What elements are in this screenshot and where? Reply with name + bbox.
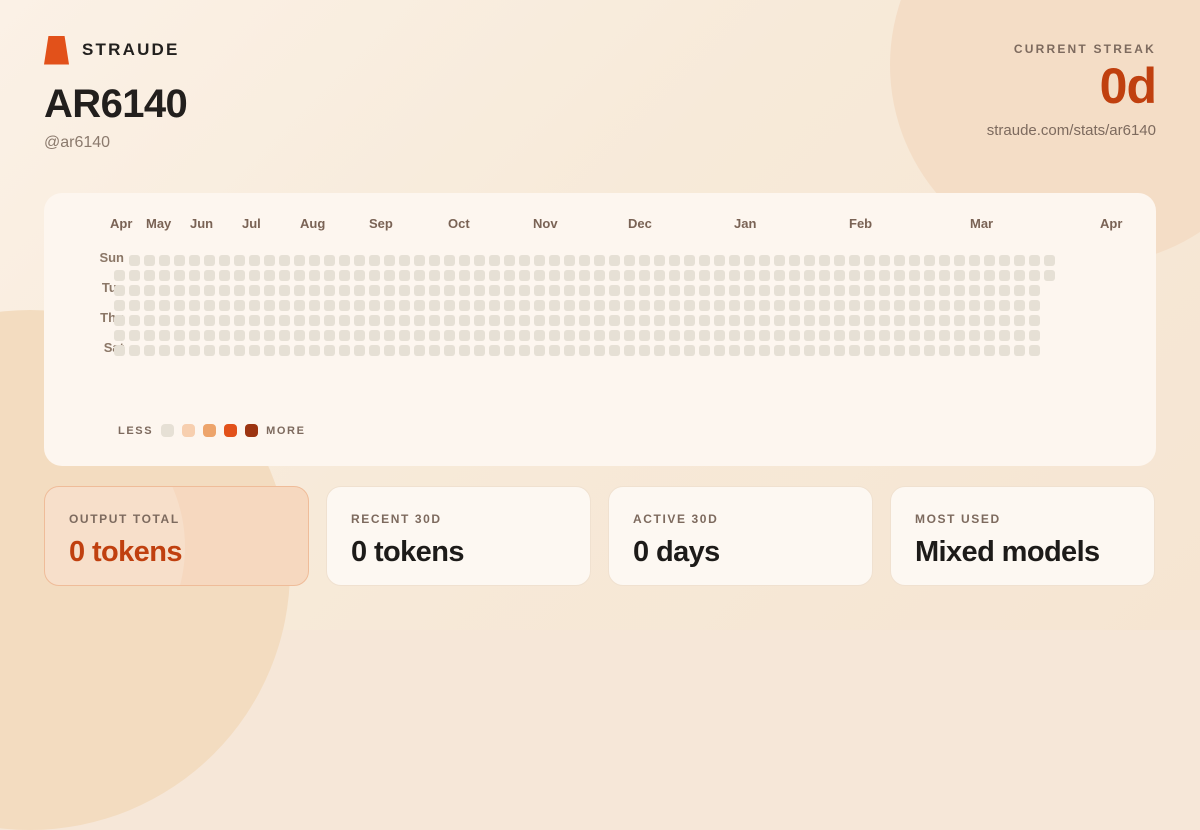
- heatmap-cell[interactable]: [954, 270, 965, 281]
- heatmap-cell[interactable]: [504, 330, 515, 341]
- heatmap-cell[interactable]: [294, 330, 305, 341]
- heatmap-cell[interactable]: [309, 345, 320, 356]
- heatmap-cell[interactable]: [684, 285, 695, 296]
- heatmap-cell[interactable]: [639, 345, 650, 356]
- heatmap-cell[interactable]: [279, 270, 290, 281]
- heatmap-cell[interactable]: [864, 285, 875, 296]
- heatmap-cell[interactable]: [819, 255, 830, 266]
- heatmap-cell[interactable]: [129, 285, 140, 296]
- heatmap-cell[interactable]: [429, 270, 440, 281]
- heatmap-cell[interactable]: [429, 315, 440, 326]
- heatmap-cell[interactable]: [369, 255, 380, 266]
- heatmap-cell[interactable]: [294, 300, 305, 311]
- heatmap-cell[interactable]: [459, 315, 470, 326]
- heatmap-cell[interactable]: [354, 285, 365, 296]
- heatmap-cell[interactable]: [579, 315, 590, 326]
- heatmap-cell[interactable]: [774, 315, 785, 326]
- heatmap-cell[interactable]: [894, 270, 905, 281]
- heatmap-cell[interactable]: [684, 255, 695, 266]
- heatmap-cell[interactable]: [159, 345, 170, 356]
- heatmap-cell[interactable]: [549, 285, 560, 296]
- heatmap-cell[interactable]: [429, 285, 440, 296]
- heatmap-cell[interactable]: [249, 285, 260, 296]
- heatmap-cell[interactable]: [444, 270, 455, 281]
- heatmap-cell[interactable]: [489, 285, 500, 296]
- heatmap-cell[interactable]: [804, 255, 815, 266]
- heatmap-cell[interactable]: [129, 345, 140, 356]
- heatmap-cell[interactable]: [609, 270, 620, 281]
- heatmap-cell[interactable]: [474, 255, 485, 266]
- heatmap-cell[interactable]: [174, 300, 185, 311]
- stat-card-recent-30d[interactable]: RECENT 30D0 tokens: [326, 486, 591, 586]
- heatmap-cell[interactable]: [249, 255, 260, 266]
- heatmap-cell[interactable]: [459, 345, 470, 356]
- heatmap-cell[interactable]: [774, 270, 785, 281]
- heatmap-cell[interactable]: [474, 330, 485, 341]
- heatmap-cell[interactable]: [309, 300, 320, 311]
- heatmap-cell[interactable]: [324, 300, 335, 311]
- heatmap-cell[interactable]: [129, 270, 140, 281]
- heatmap-cell[interactable]: [669, 330, 680, 341]
- heatmap-cell[interactable]: [1029, 345, 1040, 356]
- heatmap-cell[interactable]: [204, 300, 215, 311]
- heatmap-cell[interactable]: [654, 315, 665, 326]
- heatmap-cell[interactable]: [669, 270, 680, 281]
- heatmap-cell[interactable]: [264, 345, 275, 356]
- heatmap-cell[interactable]: [354, 300, 365, 311]
- heatmap-cell[interactable]: [654, 330, 665, 341]
- heatmap-cell[interactable]: [849, 315, 860, 326]
- heatmap-cell[interactable]: [729, 345, 740, 356]
- heatmap-cell[interactable]: [609, 330, 620, 341]
- heatmap-cell[interactable]: [834, 300, 845, 311]
- heatmap-cell[interactable]: [804, 330, 815, 341]
- heatmap-cell[interactable]: [429, 300, 440, 311]
- heatmap-cell[interactable]: [894, 315, 905, 326]
- heatmap-cell[interactable]: [669, 285, 680, 296]
- heatmap-cell[interactable]: [279, 330, 290, 341]
- heatmap-cell[interactable]: [1014, 255, 1025, 266]
- heatmap-cell[interactable]: [879, 270, 890, 281]
- heatmap-cell[interactable]: [999, 285, 1010, 296]
- heatmap-cell[interactable]: [789, 285, 800, 296]
- heatmap-cell[interactable]: [924, 345, 935, 356]
- heatmap-cell[interactable]: [1029, 300, 1040, 311]
- heatmap-cell[interactable]: [609, 285, 620, 296]
- heatmap-cell[interactable]: [699, 285, 710, 296]
- heatmap-cell[interactable]: [969, 300, 980, 311]
- heatmap-cell[interactable]: [384, 255, 395, 266]
- heatmap-cell[interactable]: [414, 270, 425, 281]
- heatmap-cell[interactable]: [189, 300, 200, 311]
- heatmap-cell[interactable]: [744, 345, 755, 356]
- heatmap-cell[interactable]: [1014, 285, 1025, 296]
- heatmap-cell[interactable]: [909, 345, 920, 356]
- heatmap-cell[interactable]: [519, 315, 530, 326]
- heatmap-cell[interactable]: [354, 345, 365, 356]
- heatmap-cell[interactable]: [1029, 270, 1040, 281]
- heatmap-cell[interactable]: [549, 300, 560, 311]
- heatmap-cell[interactable]: [519, 330, 530, 341]
- heatmap-cell[interactable]: [984, 345, 995, 356]
- heatmap-cell[interactable]: [144, 315, 155, 326]
- heatmap-cell[interactable]: [804, 345, 815, 356]
- heatmap-cell[interactable]: [924, 255, 935, 266]
- heatmap-cell[interactable]: [234, 330, 245, 341]
- heatmap-cell[interactable]: [339, 285, 350, 296]
- heatmap-cell[interactable]: [774, 345, 785, 356]
- heatmap-cell[interactable]: [504, 270, 515, 281]
- heatmap-cell[interactable]: [114, 315, 125, 326]
- heatmap-cell[interactable]: [684, 300, 695, 311]
- heatmap-cell[interactable]: [414, 330, 425, 341]
- heatmap-cell[interactable]: [669, 315, 680, 326]
- heatmap-cell[interactable]: [864, 330, 875, 341]
- heatmap-cell[interactable]: [879, 285, 890, 296]
- heatmap-cell[interactable]: [1014, 330, 1025, 341]
- heatmap-cell[interactable]: [759, 315, 770, 326]
- heatmap-cell[interactable]: [519, 345, 530, 356]
- heatmap-cell[interactable]: [834, 255, 845, 266]
- heatmap-cell[interactable]: [924, 285, 935, 296]
- heatmap-cell[interactable]: [174, 330, 185, 341]
- heatmap-cell[interactable]: [969, 345, 980, 356]
- heatmap-cell[interactable]: [459, 255, 470, 266]
- heatmap-cell[interactable]: [339, 330, 350, 341]
- heatmap-cell[interactable]: [399, 315, 410, 326]
- heatmap-cell[interactable]: [864, 270, 875, 281]
- heatmap-cell[interactable]: [159, 255, 170, 266]
- heatmap-cell[interactable]: [474, 285, 485, 296]
- heatmap-cell[interactable]: [339, 255, 350, 266]
- heatmap-cell[interactable]: [129, 255, 140, 266]
- heatmap-cell[interactable]: [219, 345, 230, 356]
- heatmap-cell[interactable]: [729, 255, 740, 266]
- heatmap-cell[interactable]: [639, 285, 650, 296]
- heatmap-cell[interactable]: [144, 270, 155, 281]
- heatmap-cell[interactable]: [999, 270, 1010, 281]
- heatmap-cell[interactable]: [624, 315, 635, 326]
- heatmap-cell[interactable]: [624, 270, 635, 281]
- heatmap-cell[interactable]: [189, 255, 200, 266]
- heatmap-cell[interactable]: [774, 330, 785, 341]
- heatmap-cell[interactable]: [264, 255, 275, 266]
- heatmap-cell[interactable]: [789, 330, 800, 341]
- heatmap-cell[interactable]: [114, 285, 125, 296]
- heatmap-cell[interactable]: [759, 300, 770, 311]
- heatmap-cell[interactable]: [819, 270, 830, 281]
- heatmap-cell[interactable]: [954, 345, 965, 356]
- heatmap-cell[interactable]: [609, 315, 620, 326]
- heatmap-cell[interactable]: [834, 285, 845, 296]
- heatmap-cell[interactable]: [579, 285, 590, 296]
- heatmap-cell[interactable]: [204, 270, 215, 281]
- heatmap-cell[interactable]: [834, 345, 845, 356]
- heatmap-cell[interactable]: [414, 345, 425, 356]
- heatmap-cell[interactable]: [654, 285, 665, 296]
- heatmap-cell[interactable]: [759, 285, 770, 296]
- heatmap-cell[interactable]: [699, 255, 710, 266]
- heatmap-cell[interactable]: [474, 300, 485, 311]
- heatmap-cell[interactable]: [579, 330, 590, 341]
- heatmap-cell[interactable]: [129, 300, 140, 311]
- heatmap-cell[interactable]: [939, 315, 950, 326]
- heatmap-cell[interactable]: [114, 300, 125, 311]
- heatmap-cell[interactable]: [114, 270, 125, 281]
- heatmap-cell[interactable]: [324, 315, 335, 326]
- heatmap-cell[interactable]: [384, 270, 395, 281]
- heatmap-cell[interactable]: [384, 345, 395, 356]
- heatmap-cell[interactable]: [879, 330, 890, 341]
- heatmap-cell[interactable]: [849, 285, 860, 296]
- heatmap-cell[interactable]: [294, 255, 305, 266]
- heatmap-cell[interactable]: [264, 270, 275, 281]
- heatmap-cell[interactable]: [249, 330, 260, 341]
- heatmap-cell[interactable]: [444, 285, 455, 296]
- heatmap-cell[interactable]: [234, 315, 245, 326]
- heatmap-cell[interactable]: [714, 315, 725, 326]
- heatmap-cell[interactable]: [459, 270, 470, 281]
- heatmap-cell[interactable]: [639, 315, 650, 326]
- heatmap-cell[interactable]: [564, 330, 575, 341]
- heatmap-cell[interactable]: [894, 285, 905, 296]
- heatmap-cell[interactable]: [984, 330, 995, 341]
- heatmap-cell[interactable]: [909, 315, 920, 326]
- heatmap-cell[interactable]: [1029, 255, 1040, 266]
- heatmap-cell[interactable]: [519, 270, 530, 281]
- heatmap-cell[interactable]: [954, 300, 965, 311]
- heatmap-cell[interactable]: [354, 255, 365, 266]
- stat-card-active-30d[interactable]: ACTIVE 30D0 days: [608, 486, 873, 586]
- heatmap-cell[interactable]: [219, 300, 230, 311]
- heatmap-cell[interactable]: [834, 330, 845, 341]
- heatmap-cell[interactable]: [339, 345, 350, 356]
- heatmap-cell[interactable]: [294, 345, 305, 356]
- heatmap-cell[interactable]: [759, 345, 770, 356]
- heatmap-cell[interactable]: [864, 315, 875, 326]
- heatmap-cell[interactable]: [189, 285, 200, 296]
- heatmap-cell[interactable]: [534, 300, 545, 311]
- brand[interactable]: STRAUDE: [44, 36, 187, 64]
- heatmap-cell[interactable]: [594, 285, 605, 296]
- heatmap-cell[interactable]: [984, 270, 995, 281]
- heatmap-cell[interactable]: [789, 315, 800, 326]
- heatmap-cell[interactable]: [249, 315, 260, 326]
- heatmap-cell[interactable]: [939, 345, 950, 356]
- heatmap-cell[interactable]: [534, 255, 545, 266]
- heatmap-cell[interactable]: [924, 300, 935, 311]
- heatmap-cell[interactable]: [429, 345, 440, 356]
- heatmap-cell[interactable]: [804, 300, 815, 311]
- heatmap-cell[interactable]: [639, 270, 650, 281]
- heatmap-cell[interactable]: [549, 330, 560, 341]
- heatmap-cell[interactable]: [834, 270, 845, 281]
- heatmap-cell[interactable]: [189, 345, 200, 356]
- heatmap-cell[interactable]: [984, 255, 995, 266]
- heatmap-cell[interactable]: [324, 255, 335, 266]
- heatmap-cell[interactable]: [399, 270, 410, 281]
- heatmap-cell[interactable]: [414, 285, 425, 296]
- heatmap-cell[interactable]: [909, 330, 920, 341]
- heatmap-cell[interactable]: [474, 345, 485, 356]
- heatmap-cell[interactable]: [624, 330, 635, 341]
- heatmap-cell[interactable]: [489, 330, 500, 341]
- heatmap-cell[interactable]: [819, 315, 830, 326]
- heatmap-cell[interactable]: [279, 315, 290, 326]
- heatmap-cell[interactable]: [594, 270, 605, 281]
- heatmap-cell[interactable]: [489, 315, 500, 326]
- heatmap-cell[interactable]: [294, 315, 305, 326]
- heatmap-cell[interactable]: [879, 300, 890, 311]
- heatmap-cell[interactable]: [774, 300, 785, 311]
- heatmap-cell[interactable]: [699, 270, 710, 281]
- heatmap-cell[interactable]: [714, 285, 725, 296]
- heatmap-cell[interactable]: [279, 345, 290, 356]
- heatmap-cell[interactable]: [234, 300, 245, 311]
- heatmap-cell[interactable]: [654, 300, 665, 311]
- heatmap-cell[interactable]: [369, 270, 380, 281]
- heatmap-cell[interactable]: [234, 345, 245, 356]
- heatmap-cell[interactable]: [564, 285, 575, 296]
- heatmap-cell[interactable]: [519, 255, 530, 266]
- heatmap-cell[interactable]: [504, 285, 515, 296]
- heatmap-cell[interactable]: [114, 345, 125, 356]
- heatmap-cell[interactable]: [399, 330, 410, 341]
- heatmap-cell[interactable]: [309, 255, 320, 266]
- heatmap-cell[interactable]: [609, 345, 620, 356]
- heatmap-cell[interactable]: [909, 255, 920, 266]
- heatmap-cell[interactable]: [714, 330, 725, 341]
- heatmap-cell[interactable]: [939, 300, 950, 311]
- heatmap-cell[interactable]: [1014, 345, 1025, 356]
- heatmap-cell[interactable]: [399, 300, 410, 311]
- heatmap-cell[interactable]: [684, 330, 695, 341]
- heatmap-cell[interactable]: [624, 345, 635, 356]
- heatmap-cell[interactable]: [999, 315, 1010, 326]
- heatmap-cell[interactable]: [639, 300, 650, 311]
- heatmap-cell[interactable]: [954, 315, 965, 326]
- heatmap-cell[interactable]: [429, 330, 440, 341]
- heatmap-cell[interactable]: [549, 345, 560, 356]
- heatmap-cell[interactable]: [894, 255, 905, 266]
- heatmap-cell[interactable]: [939, 330, 950, 341]
- heatmap-cell[interactable]: [774, 285, 785, 296]
- heatmap-cell[interactable]: [474, 315, 485, 326]
- heatmap-cell[interactable]: [309, 270, 320, 281]
- heatmap-cell[interactable]: [114, 330, 125, 341]
- heatmap-cell[interactable]: [969, 315, 980, 326]
- heatmap-cell[interactable]: [744, 300, 755, 311]
- heatmap-cell[interactable]: [939, 270, 950, 281]
- heatmap-cell[interactable]: [849, 345, 860, 356]
- heatmap-cell[interactable]: [564, 345, 575, 356]
- heatmap-cell[interactable]: [1014, 270, 1025, 281]
- heatmap-cell[interactable]: [909, 300, 920, 311]
- heatmap-cell[interactable]: [459, 330, 470, 341]
- heatmap-cell[interactable]: [324, 330, 335, 341]
- heatmap-cell[interactable]: [954, 285, 965, 296]
- heatmap-cell[interactable]: [504, 315, 515, 326]
- heatmap-cell[interactable]: [594, 300, 605, 311]
- heatmap-cell[interactable]: [174, 285, 185, 296]
- heatmap-cell[interactable]: [789, 345, 800, 356]
- heatmap-cell[interactable]: [369, 345, 380, 356]
- heatmap-cell[interactable]: [414, 300, 425, 311]
- heatmap-cell[interactable]: [279, 285, 290, 296]
- heatmap-cell[interactable]: [519, 285, 530, 296]
- heatmap-cell[interactable]: [159, 315, 170, 326]
- heatmap-cell[interactable]: [204, 315, 215, 326]
- heatmap-cell[interactable]: [564, 315, 575, 326]
- heatmap-cell[interactable]: [384, 300, 395, 311]
- heatmap-cell[interactable]: [264, 315, 275, 326]
- heatmap-cell[interactable]: [234, 270, 245, 281]
- heatmap-cell[interactable]: [309, 330, 320, 341]
- heatmap-cell[interactable]: [624, 285, 635, 296]
- heatmap-cell[interactable]: [849, 300, 860, 311]
- heatmap-cell[interactable]: [279, 255, 290, 266]
- heatmap-cell[interactable]: [819, 285, 830, 296]
- heatmap-cell[interactable]: [324, 285, 335, 296]
- heatmap-cell[interactable]: [594, 255, 605, 266]
- heatmap-cell[interactable]: [444, 300, 455, 311]
- heatmap-cell[interactable]: [894, 345, 905, 356]
- heatmap-cell[interactable]: [729, 315, 740, 326]
- heatmap-cell[interactable]: [819, 330, 830, 341]
- heatmap-cell[interactable]: [534, 315, 545, 326]
- heatmap-cell[interactable]: [444, 345, 455, 356]
- heatmap-cell[interactable]: [384, 285, 395, 296]
- heatmap-cell[interactable]: [879, 315, 890, 326]
- heatmap-cell[interactable]: [864, 255, 875, 266]
- heatmap-cell[interactable]: [444, 255, 455, 266]
- heatmap-cell[interactable]: [1014, 315, 1025, 326]
- heatmap-cell[interactable]: [1029, 330, 1040, 341]
- heatmap-cell[interactable]: [219, 285, 230, 296]
- heatmap-cell[interactable]: [204, 255, 215, 266]
- heatmap-cell[interactable]: [534, 270, 545, 281]
- heatmap-cell[interactable]: [579, 345, 590, 356]
- heatmap-cell[interactable]: [969, 255, 980, 266]
- heatmap-cell[interactable]: [939, 255, 950, 266]
- heatmap-cell[interactable]: [909, 285, 920, 296]
- heatmap-cell[interactable]: [834, 315, 845, 326]
- heatmap-cell[interactable]: [849, 255, 860, 266]
- heatmap-cell[interactable]: [414, 255, 425, 266]
- heatmap-cell[interactable]: [984, 300, 995, 311]
- heatmap-cell[interactable]: [384, 330, 395, 341]
- heatmap-cell[interactable]: [579, 255, 590, 266]
- heatmap-cell[interactable]: [684, 270, 695, 281]
- heatmap-cell[interactable]: [204, 285, 215, 296]
- heatmap-cell[interactable]: [339, 315, 350, 326]
- heatmap-cell[interactable]: [144, 300, 155, 311]
- heatmap-cell[interactable]: [339, 270, 350, 281]
- heatmap-cell[interactable]: [1044, 270, 1055, 281]
- heatmap-cell[interactable]: [849, 270, 860, 281]
- stat-card-output-total[interactable]: OUTPUT TOTAL0 tokens: [44, 486, 309, 586]
- heatmap-cell[interactable]: [954, 255, 965, 266]
- heatmap-cell[interactable]: [999, 330, 1010, 341]
- heatmap-cell[interactable]: [714, 270, 725, 281]
- heatmap-cell[interactable]: [279, 300, 290, 311]
- heatmap-cell[interactable]: [609, 300, 620, 311]
- heatmap-cell[interactable]: [489, 345, 500, 356]
- heatmap-cell[interactable]: [984, 315, 995, 326]
- heatmap-cell[interactable]: [534, 345, 545, 356]
- heatmap-cell[interactable]: [174, 255, 185, 266]
- heatmap-cell[interactable]: [549, 315, 560, 326]
